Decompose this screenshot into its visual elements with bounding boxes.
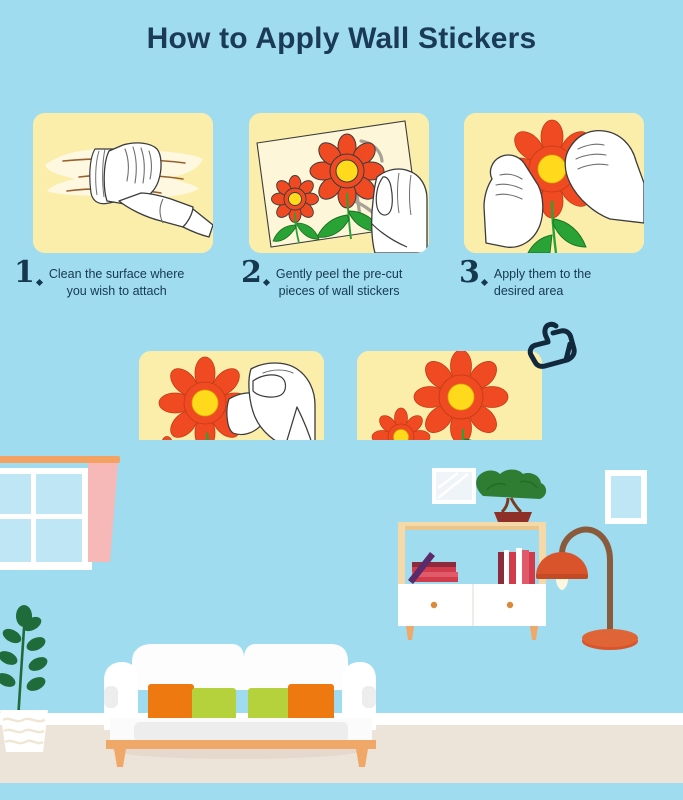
step-2-number: 2 xyxy=(241,258,274,288)
thumbs-up-icon xyxy=(522,318,584,370)
curtain-rod xyxy=(0,456,120,463)
step-2-illustration xyxy=(249,113,429,253)
step-3-caption: 3 Apply them to thedesired area xyxy=(459,262,674,300)
room-illustration xyxy=(0,440,683,800)
step-2-caption-text: Gently peel the pre-cutpieces of wall st… xyxy=(276,262,402,300)
step-3-caption-text: Apply them to thedesired area xyxy=(494,262,591,300)
step-1-caption: 1 Clean the surface whereyou wish to att… xyxy=(14,262,229,300)
wall-picture xyxy=(605,470,647,524)
step-2-caption: 2 Gently peel the pre-cutpieces of wall … xyxy=(241,262,459,300)
step-1-number: 1 xyxy=(14,258,47,288)
window xyxy=(0,468,92,570)
step-3-number: 3 xyxy=(459,258,492,288)
page-title: How to Apply Wall Stickers xyxy=(0,22,683,56)
step-1-caption-text: Clean the surface whereyou wish to attac… xyxy=(49,262,185,300)
step-1-illustration xyxy=(33,113,213,253)
books-standing xyxy=(498,548,535,584)
step-number-dot xyxy=(36,279,43,286)
step-number-dot xyxy=(263,279,270,286)
step-3-illustration xyxy=(464,113,644,253)
step-number-dot xyxy=(481,279,488,286)
infographic-canvas: How to Apply Wall Stickers xyxy=(0,0,683,800)
picture-frame-shelf xyxy=(432,468,476,504)
